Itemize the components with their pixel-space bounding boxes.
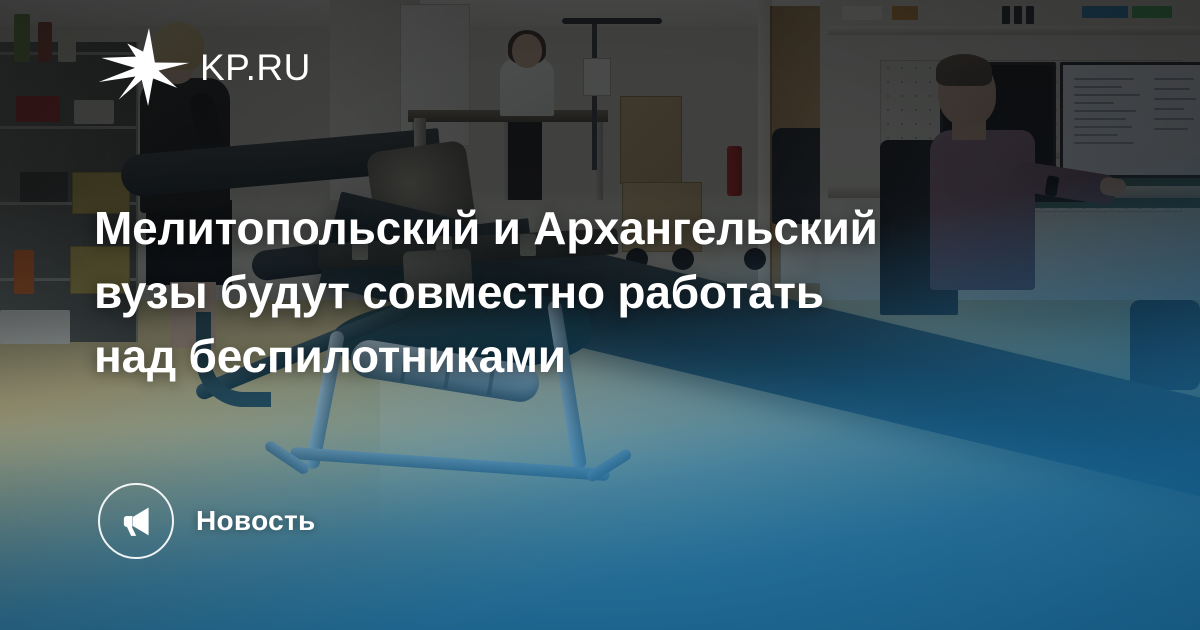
megaphone-icon <box>118 503 154 539</box>
card-content: KP.RU Мелитопольский и Архангельский вуз… <box>0 0 1200 630</box>
swallow-bird-icon <box>98 28 190 106</box>
headline-line-2: вузы будут совместно работать <box>94 260 1104 324</box>
brand-name: KP.RU <box>200 49 311 86</box>
news-share-card: KP.RU Мелитопольский и Архангельский вуз… <box>0 0 1200 630</box>
page-title: Мелитопольский и Архангельский вузы буду… <box>94 196 1104 388</box>
badge-label: Новость <box>196 505 316 537</box>
brand-logo[interactable]: KP.RU <box>98 28 311 106</box>
headline-line-3: над беспилотниками <box>94 324 1104 388</box>
headline-line-1: Мелитопольский и Архангельский <box>94 196 1104 260</box>
status-badge[interactable]: Новость <box>98 483 316 559</box>
badge-icon-circle <box>98 483 174 559</box>
